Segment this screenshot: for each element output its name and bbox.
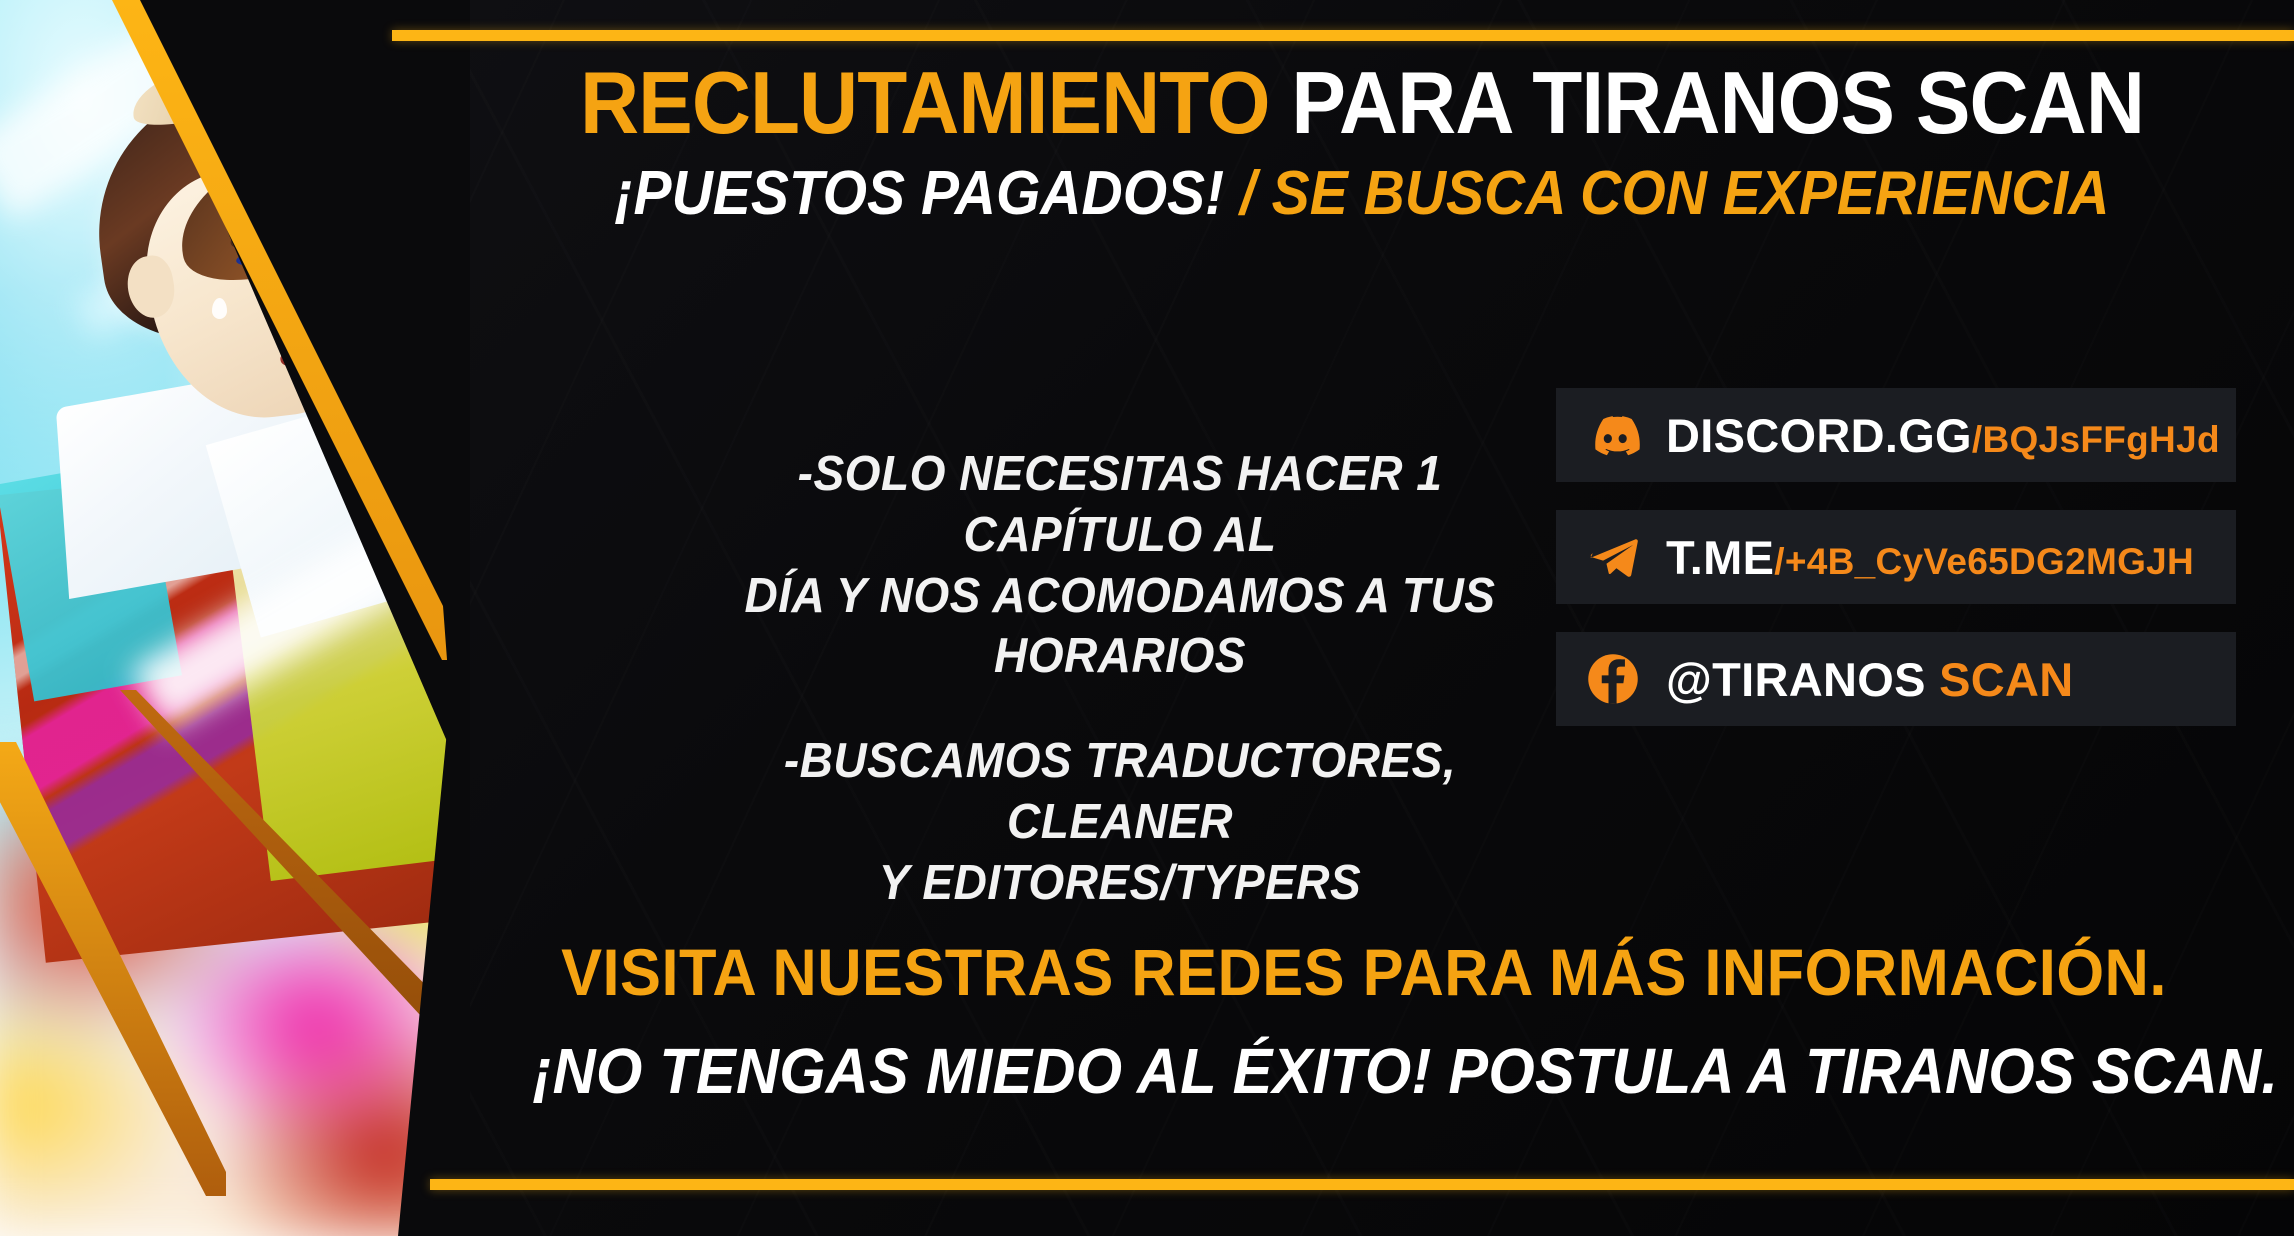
cta-line-secondary: ¡NO TENGAS MIEDO AL ÉXITO! POSTULA A TIR… bbox=[533, 1034, 2196, 1108]
contact-text-discord: DISCORD.GG/BQJsFFgHJd bbox=[1666, 408, 2220, 463]
recruitment-banner: RECLUTAMIENTO PARA TIRANOS SCAN ¡PUESTOS… bbox=[0, 0, 2294, 1236]
headline-primary-gold: RECLUTAMIENTO bbox=[580, 53, 1270, 152]
bullet-item: -BUSCAMOS TRADUCTORES, CLEANER Y EDITORE… bbox=[725, 731, 1515, 913]
contact-text-facebook: @TIRANOS SCAN bbox=[1666, 652, 2073, 707]
contact-domain: DISCORD.GG bbox=[1666, 409, 1972, 462]
bottom-gold-rule bbox=[430, 1179, 2294, 1190]
bullet-line: DÍA Y NOS ACOMODAMOS A TUS HORARIOS bbox=[725, 566, 1515, 688]
contact-row-telegram[interactable]: T.ME/+4B_CyVe65DG2MGJH bbox=[1556, 510, 2236, 604]
headline-secondary-gold: / SE BUSCA CON EXPERIENCIA bbox=[1240, 159, 2109, 228]
bullet-line: Y EDITORES/TYPERS bbox=[725, 853, 1515, 914]
contact-text-telegram: T.ME/+4B_CyVe65DG2MGJH bbox=[1666, 530, 2194, 585]
character-sweat-drop bbox=[212, 298, 227, 319]
artwork-panel bbox=[0, 0, 470, 1236]
headline-primary-white: PARA TIRANOS SCAN bbox=[1291, 53, 2144, 152]
discord-icon bbox=[1586, 408, 1640, 462]
headline-secondary-white: ¡PUESTOS PAGADOS! bbox=[615, 159, 1225, 228]
cta-line-primary: VISITA NUESTRAS REDES PARA MÁS INFORMACI… bbox=[533, 934, 2196, 1010]
contact-domain: T.ME bbox=[1666, 531, 1774, 584]
contact-row-discord[interactable]: DISCORD.GG/BQJsFFgHJd bbox=[1556, 388, 2236, 482]
bullet-item: -SOLO NECESITAS HACER 1 CAPÍTULO AL DÍA … bbox=[725, 444, 1515, 687]
facebook-icon bbox=[1586, 652, 1640, 706]
contact-domain: @TIRANOS bbox=[1666, 653, 1926, 706]
call-to-action-block: VISITA NUESTRAS REDES PARA MÁS INFORMACI… bbox=[470, 934, 2258, 1108]
contact-path: /BQJsFFgHJd bbox=[1972, 419, 2220, 460]
contact-path: SCAN bbox=[1939, 653, 2073, 706]
headline-block: RECLUTAMIENTO PARA TIRANOS SCAN ¡PUESTOS… bbox=[470, 58, 2254, 228]
telegram-icon bbox=[1586, 530, 1640, 584]
top-gold-rule bbox=[392, 30, 2294, 41]
contact-list: DISCORD.GG/BQJsFFgHJd T.ME/+4B_CyVe65DG2… bbox=[1556, 388, 2236, 726]
bullet-list: -SOLO NECESITAS HACER 1 CAPÍTULO AL DÍA … bbox=[725, 444, 1515, 913]
headline-secondary: ¡PUESTOS PAGADOS! / SE BUSCA CON EXPERIE… bbox=[541, 160, 2182, 228]
bullet-line: -SOLO NECESITAS HACER 1 CAPÍTULO AL bbox=[725, 444, 1515, 566]
contact-row-facebook[interactable]: @TIRANOS SCAN bbox=[1556, 632, 2236, 726]
contact-path: /+4B_CyVe65DG2MGJH bbox=[1774, 541, 2194, 582]
bullet-line: -BUSCAMOS TRADUCTORES, CLEANER bbox=[725, 731, 1515, 853]
headline-primary: RECLUTAMIENTO PARA TIRANOS SCAN bbox=[532, 58, 2191, 148]
